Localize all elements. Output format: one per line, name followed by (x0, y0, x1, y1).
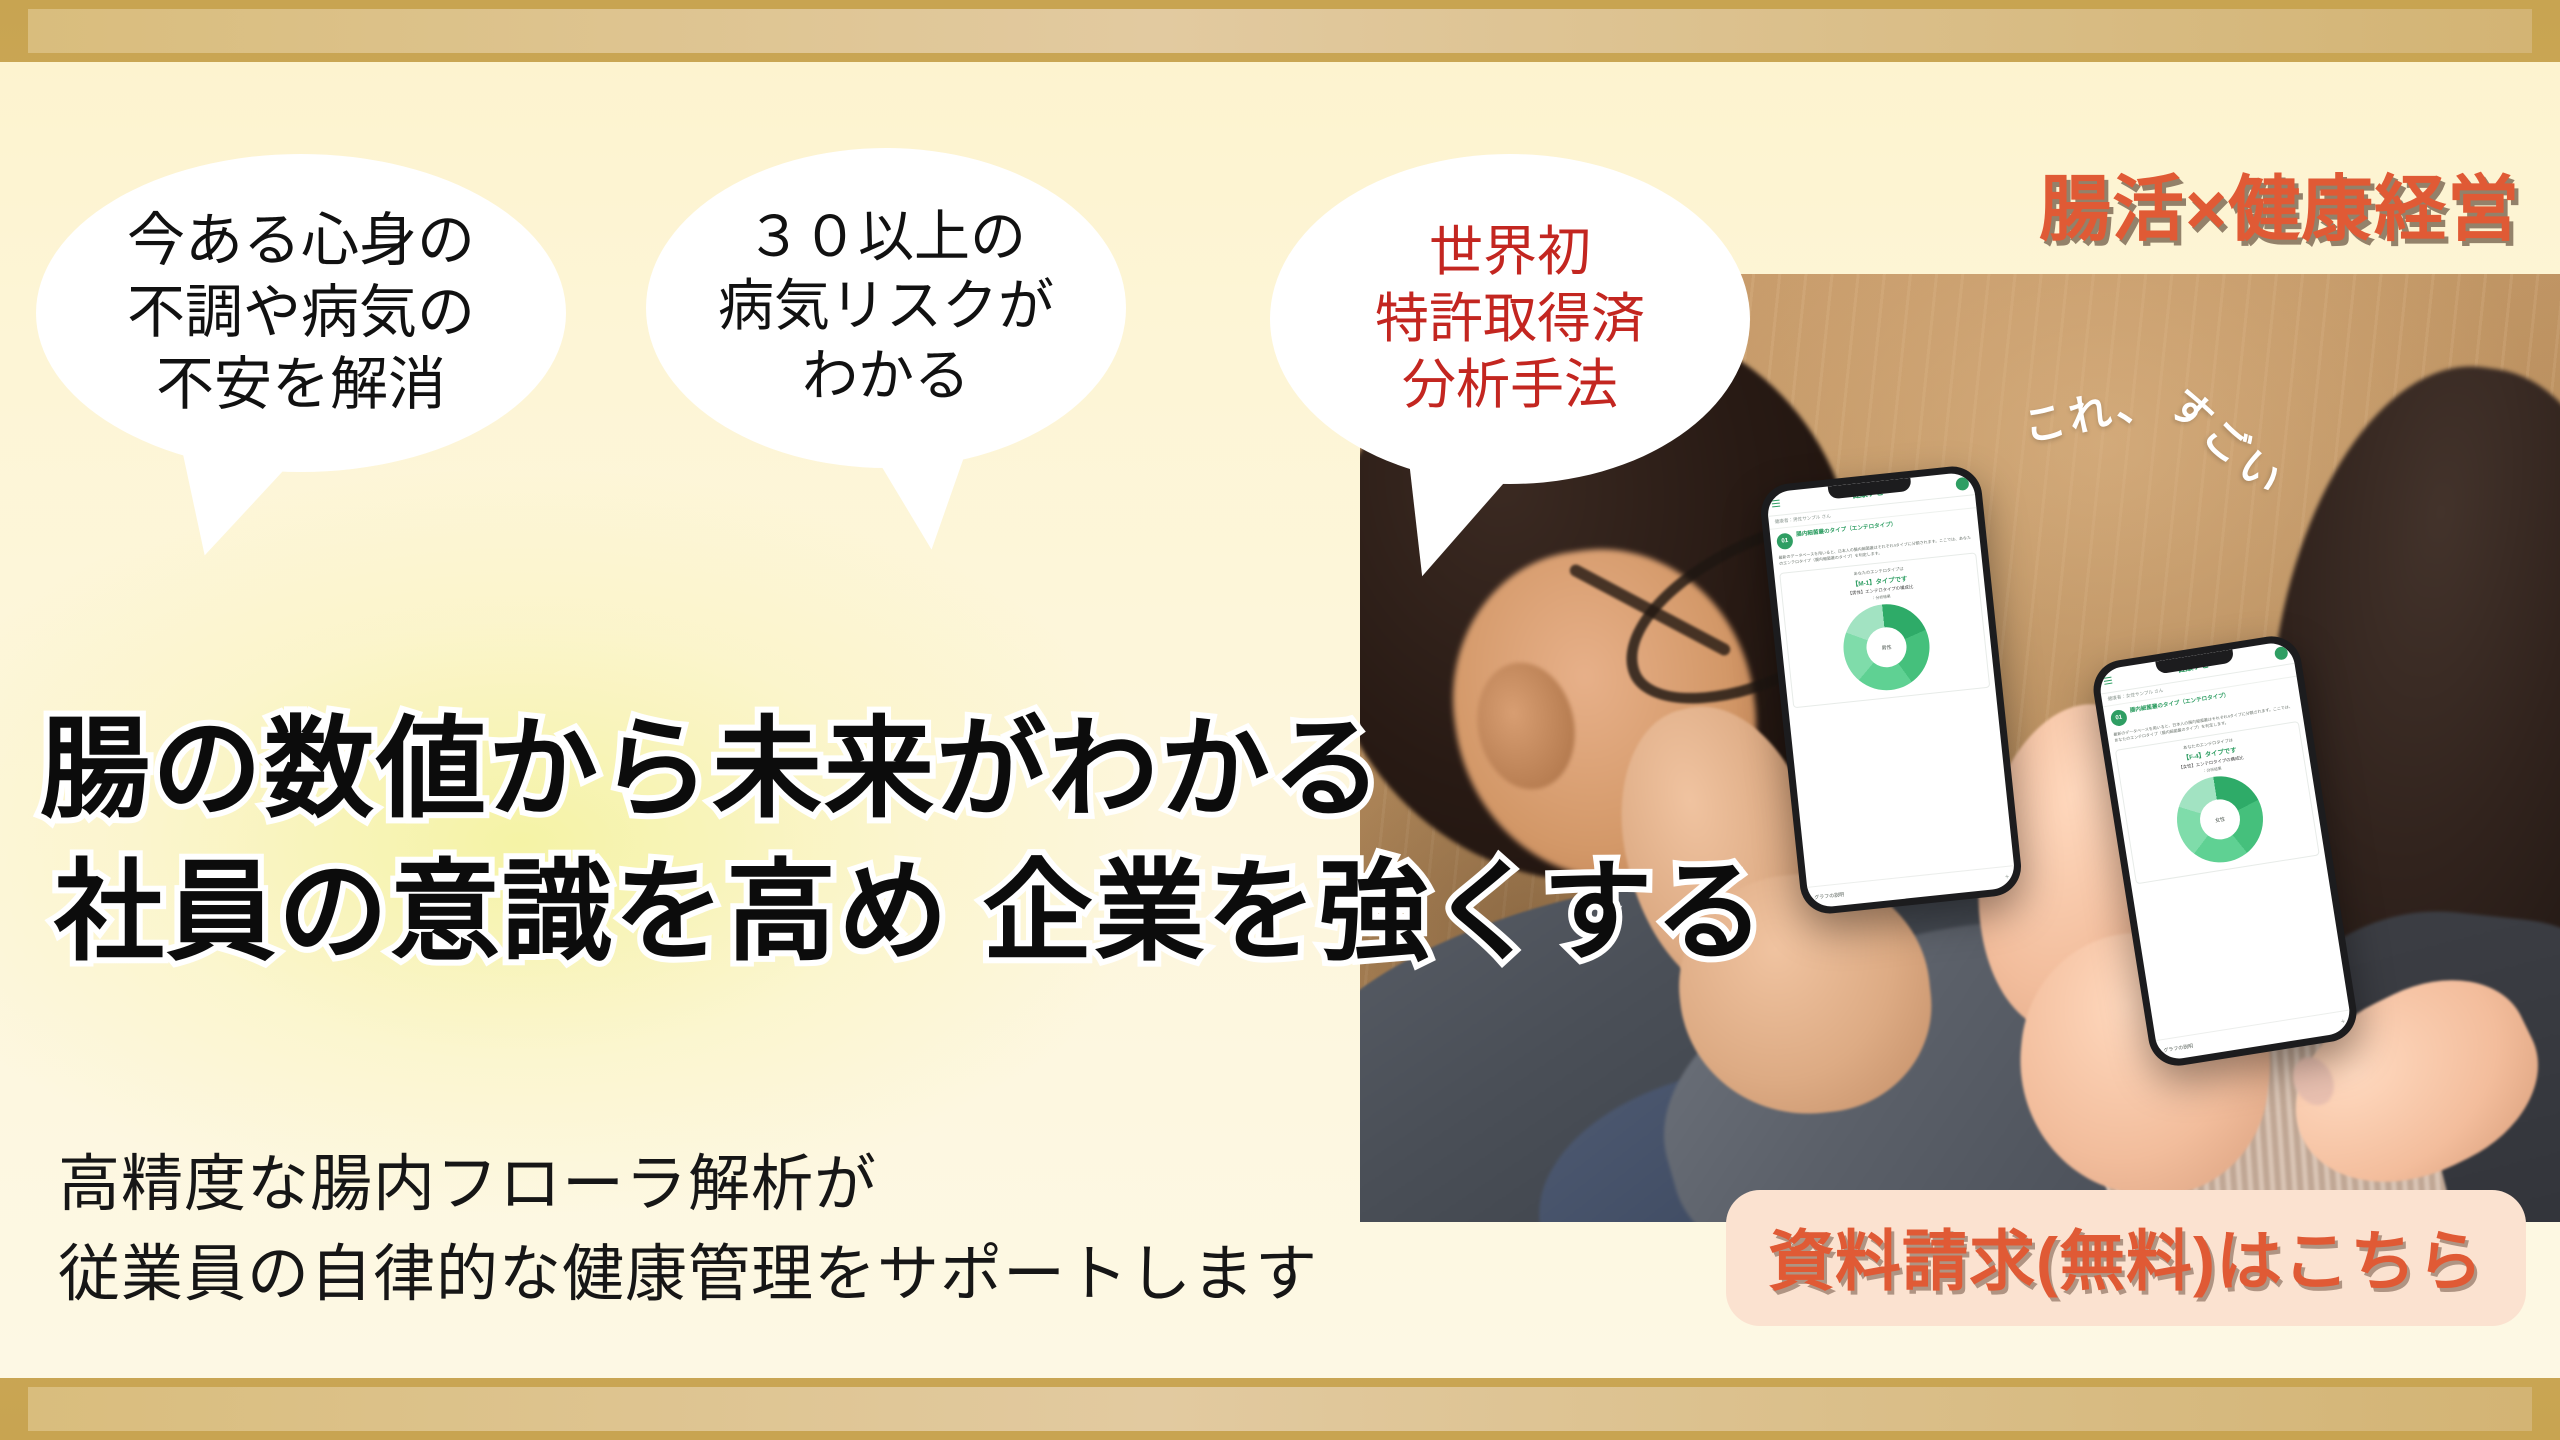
phone-left: 健康ナビ 健康者：男性サンプル さん 01 腸内細菌叢のタイプ（エンテロタイプ）… (1758, 464, 2024, 917)
hamburger-menu-icon[interactable] (2103, 677, 2112, 685)
speech-bubble-tail (1392, 457, 1513, 587)
donut-center-label: 男性 (1865, 625, 1909, 669)
graph-explanation-label[interactable]: グラフの説明 (1814, 891, 1845, 901)
bubble-line: ３０以上の (746, 204, 1026, 273)
result-card: あなたのエンテロタイプは 【F-4】タイプです 【女性】エンテロタイプの構成比 … (2115, 721, 2320, 884)
subtext-line-1: 高精度な腸内フローラ解析が (58, 1140, 1318, 1230)
headline-block: 腸の数値から未来がわかる 社員の意識を高め 企業を強くする (40, 698, 1767, 984)
enterotype-donut-chart: 男性 (1839, 600, 1934, 695)
bubble-line: 不調や病気の (127, 277, 475, 349)
section-number-badge: 01 (1776, 532, 1794, 550)
graph-explanation-label[interactable]: グラフの説明 (2163, 1042, 2194, 1054)
bubble-line: 特許取得済 (1375, 286, 1645, 353)
banner-inner: 健康ナビ 健康者：男性サンプル さん 01 腸内細菌叢のタイプ（エンテロタイプ）… (0, 62, 2560, 1378)
bubble-line: わかる (802, 343, 970, 412)
plus-icon[interactable]: + (2005, 874, 2010, 881)
speech-bubble-tail (171, 448, 293, 563)
enterotype-donut-chart: 女性 (2171, 770, 2269, 868)
speech-bubble-tail (873, 445, 976, 553)
marketing-banner: 健康ナビ 健康者：男性サンプル さん 01 腸内細菌叢のタイプ（エンテロタイプ）… (0, 0, 2560, 1440)
bubble-line: 病気リスクが (718, 273, 1054, 342)
phone-left-screen: 健康ナビ 健康者：男性サンプル さん 01 腸内細菌叢のタイプ（エンテロタイプ）… (1766, 471, 2017, 908)
hamburger-menu-icon[interactable] (1772, 500, 1781, 508)
speech-bubble-patent: 世界初 特許取得済 分析手法 (1270, 154, 1750, 484)
cta-request-materials-button[interactable]: 資料請求(無料)はこちら (1726, 1190, 2526, 1326)
bubble-line: 不安を解消 (156, 349, 446, 421)
speech-bubble-symptoms: 今ある心身の 不調や病気の 不安を解消 (36, 154, 566, 472)
result-card: あなたのエンテロタイプは 【M-1】タイプです 【男性】エンテロタイプの構成比 … (1779, 552, 1990, 708)
avatar[interactable] (1955, 477, 1969, 491)
gold-frame-band-bottom (28, 1387, 2532, 1431)
gold-frame-band-top (28, 9, 2532, 53)
subtext-block: 高精度な腸内フローラ解析が 従業員の自律的な健康管理をサポートします (58, 1140, 1318, 1320)
corner-tagline: 腸活×健康経営 (2039, 150, 2520, 255)
subtext-line-2: 従業員の自律的な健康管理をサポートします (58, 1230, 1318, 1320)
plus-icon[interactable]: + (2341, 1018, 2346, 1026)
headline-line-1: 腸の数値から未来がわかる (40, 698, 1767, 841)
bubble-line: 分析手法 (1402, 352, 1618, 419)
section-number-badge: 01 (2110, 709, 2128, 727)
avatar[interactable] (2274, 646, 2289, 661)
headline-line-2: 社員の意識を高め 企業を強くする (54, 841, 1767, 984)
bubble-line: 世界初 (1429, 219, 1591, 286)
donut-center-label: 女性 (2197, 797, 2243, 843)
bubble-line: 今ある心身の (127, 205, 475, 277)
speech-bubble-risk: ３０以上の 病気リスクが わかる (646, 148, 1126, 468)
